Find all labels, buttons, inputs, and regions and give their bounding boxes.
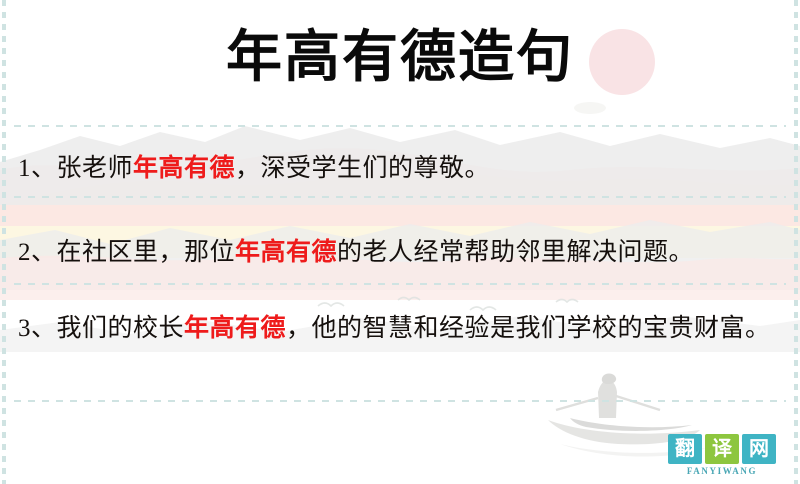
sentence-number-2: 2、: [18, 239, 57, 266]
separator-line-bottom: [14, 400, 786, 402]
sentence-text-after-2: 的老人经常帮助邻里解决问题。: [337, 239, 694, 266]
sentence-item-1: 1、张老师年高有德，深受学生们的尊敬。: [18, 146, 782, 192]
idiom-highlight-3: 年高有德: [184, 315, 286, 342]
sentence-text-after-1: ，深受学生们的尊敬。: [235, 155, 490, 182]
sentence-text-after-3: ，他的智慧和经验是我们学校的宝贵财富。: [286, 315, 771, 342]
idiom-highlight-2: 年高有德: [235, 239, 337, 266]
logo-char-fan: 翻: [668, 434, 702, 464]
logo-subtitle: FANYIWANG: [660, 466, 784, 476]
site-logo[interactable]: 翻 译 网 FANYIWANG: [660, 434, 784, 476]
logo-character-group: 翻 译 网: [660, 434, 784, 464]
sentence-text-before-3: 我们的校长: [57, 315, 185, 342]
logo-char-wang: 网: [742, 434, 776, 464]
logo-char-yi: 译: [705, 434, 739, 464]
poster-canvas: 年高有德造句 1、张老师年高有德，深受学生们的尊敬。 2、在社区里，那位年高有德…: [0, 0, 800, 484]
page-title: 年高有德造句: [0, 26, 800, 90]
sentence-text-before-2: 在社区里，那位: [57, 239, 236, 266]
ink-blot-decoration: [574, 102, 606, 114]
separator-line-top: [14, 125, 786, 127]
separator-line-2: [14, 283, 786, 285]
sentence-text-before-1: 张老师: [57, 155, 134, 182]
sentence-number-1: 1、: [18, 155, 57, 182]
sentence-item-2: 2、在社区里，那位年高有德的老人经常帮助邻里解决问题。: [18, 230, 782, 276]
separator-line-1: [14, 196, 786, 198]
sentence-number-3: 3、: [18, 315, 57, 342]
sentence-item-3: 3、我们的校长年高有德，他的智慧和经验是我们学校的宝贵财富。: [18, 306, 782, 352]
idiom-highlight-1: 年高有德: [133, 155, 235, 182]
